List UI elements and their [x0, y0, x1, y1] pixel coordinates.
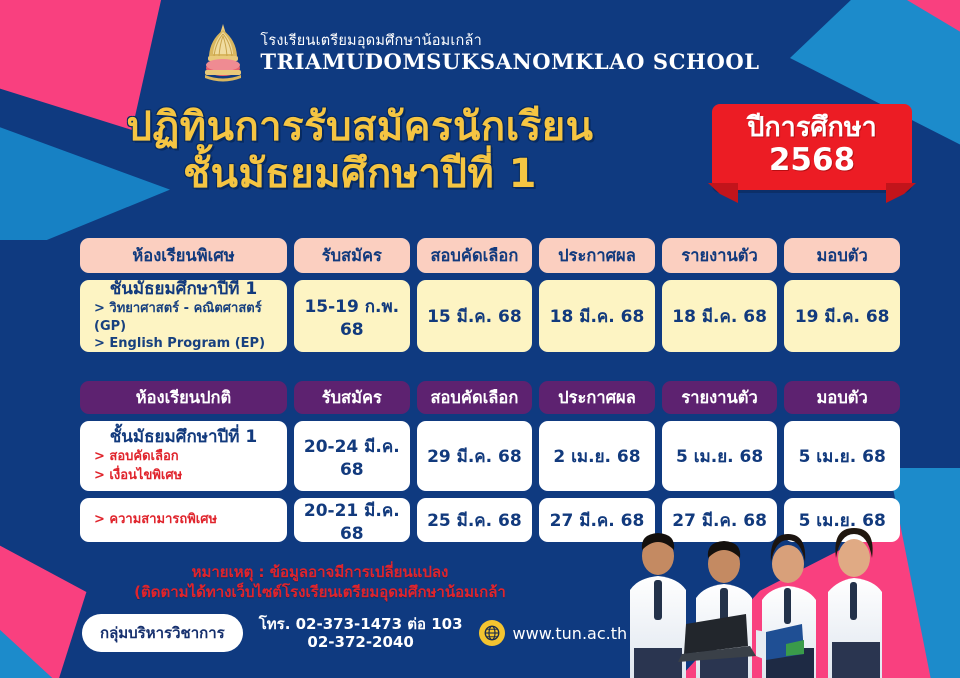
header-normal-application: รับสมัคร — [294, 381, 410, 414]
header-normal-exam: สอบคัดเลือก — [417, 381, 533, 414]
special-row-title: ชั้นมัธยมศึกษาปีที่ 1 — [86, 279, 281, 300]
special-row-sub-2: > English Program (EP) — [86, 335, 281, 353]
normal-row1-date-enroll: 5 เม.ย. 68 — [784, 421, 900, 491]
normal-row1-date-report: 5 เม.ย. 68 — [662, 421, 778, 491]
globe-icon — [479, 620, 505, 646]
table-row: ชั้นมัธยมศึกษาปีที่ 1 > วิทยาศาสตร์ - คณ… — [80, 280, 900, 352]
normal-row2-date-exam: 25 มี.ค. 68 — [417, 498, 533, 542]
school-name-thai: โรงเรียนเตรียมอุดมศึกษาน้อมเกล้า — [260, 33, 759, 50]
school-name-english: TRIAMUDOMSUKSANOMKLAO SCHOOL — [260, 51, 759, 73]
header-special-report: รายงานตัว — [662, 238, 778, 273]
normal-row1-sub-1: > สอบคัดเลือก — [86, 448, 281, 466]
normal-row2-date-application: 20-21 มี.ค. 68 — [294, 498, 410, 542]
department-badge: กลุ่มบริหารวิชาการ — [82, 614, 243, 652]
header-normal-report: รายงานตัว — [662, 381, 778, 414]
poster-header: โรงเรียนเตรียมอุดมศึกษาน้อมเกล้า TRIAMUD… — [0, 22, 960, 84]
website-block[interactable]: www.tun.ac.th — [479, 620, 628, 646]
normal-row1-title: ชั้นมัธยมศึกษาปีที่ 1 — [86, 427, 281, 448]
footnote-line-2: (ติดตามได้ทางเว็บไซต์โรงเรียนเตรียมอุดมศ… — [0, 582, 640, 602]
title-line-2: ชั้นมัธยมศึกษาปีที่ 1 — [60, 151, 660, 198]
ribbon-year: 2568 — [722, 143, 902, 178]
header-normal-classroom: ห้องเรียนปกติ — [80, 381, 287, 414]
calendar-tables: ห้องเรียนพิเศษ รับสมัคร สอบคัดเลือก ประก… — [80, 238, 900, 549]
header-special-enroll: มอบตัว — [784, 238, 900, 273]
page-title: ปฏิทินการรับสมัครนักเรียน ชั้นมัธยมศึกษา… — [60, 104, 660, 198]
special-date-report: 18 มี.ค. 68 — [662, 280, 778, 352]
normal-row1-date-exam: 29 มี.ค. 68 — [417, 421, 533, 491]
phone-block: โทร. 02-373-1473 ต่อ 103 02-372-2040 — [259, 615, 463, 651]
special-date-application: 15-19 ก.พ. 68 — [294, 280, 410, 352]
normal-row2-sub-1: > ความสามารถพิเศษ — [86, 511, 281, 529]
thai-royal-crown-emblem-icon — [200, 22, 246, 84]
header-special-exam: สอบคัดเลือก — [417, 238, 533, 273]
normal-row1-sub-2: > เงื่อนไขพิเศษ — [86, 467, 281, 485]
phone-line-1: โทร. 02-373-1473 ต่อ 103 — [259, 615, 463, 633]
title-line-1: ปฏิทินการรับสมัครนักเรียน — [60, 104, 660, 151]
ribbon-body: ปีการศึกษา 2568 — [712, 104, 912, 190]
students-photo — [616, 528, 916, 678]
special-date-exam: 15 มี.ค. 68 — [417, 280, 533, 352]
table-row: ชั้นมัธยมศึกษาปีที่ 1 > สอบคัดเลือก > เง… — [80, 421, 900, 491]
normal-table-header-row: ห้องเรียนปกติ รับสมัคร สอบคัดเลือก ประกา… — [80, 381, 900, 414]
header-normal-enroll: มอบตัว — [784, 381, 900, 414]
header-special-application: รับสมัคร — [294, 238, 410, 273]
header-special-results: ประกาศผล — [539, 238, 655, 273]
footnote-line-1: หมายเหตุ : ข้อมูลอาจมีการเปลี่ยนแปลง — [0, 562, 640, 582]
special-row-program: ชั้นมัธยมศึกษาปีที่ 1 > วิทยาศาสตร์ - คณ… — [80, 280, 287, 352]
poster-canvas: โรงเรียนเตรียมอุดมศึกษาน้อมเกล้า TRIAMUD… — [0, 0, 960, 678]
header-normal-results: ประกาศผล — [539, 381, 655, 414]
contact-bar: กลุ่มบริหารวิชาการ โทร. 02-373-1473 ต่อ … — [82, 614, 627, 652]
normal-row1-program: ชั้นมัธยมศึกษาปีที่ 1 > สอบคัดเลือก > เง… — [80, 421, 287, 491]
school-name-block: โรงเรียนเตรียมอุดมศึกษาน้อมเกล้า TRIAMUD… — [260, 33, 759, 73]
normal-row1-date-application: 20-24 มี.ค. 68 — [294, 421, 410, 491]
footnote: หมายเหตุ : ข้อมูลอาจมีการเปลี่ยนแปลง (ติ… — [0, 562, 640, 603]
special-date-results: 18 มี.ค. 68 — [539, 280, 655, 352]
special-table-header-row: ห้องเรียนพิเศษ รับสมัคร สอบคัดเลือก ประก… — [80, 238, 900, 273]
academic-year-ribbon: ปีการศึกษา 2568 — [712, 104, 912, 190]
header-special-classroom: ห้องเรียนพิเศษ — [80, 238, 287, 273]
special-row-sub-1: > วิทยาศาสตร์ - คณิตศาสตร์ (GP) — [86, 300, 281, 335]
phone-line-2: 02-372-2040 — [259, 633, 463, 651]
normal-row2-program: > ความสามารถพิเศษ — [80, 498, 287, 542]
special-date-enroll: 19 มี.ค. 68 — [784, 280, 900, 352]
ribbon-label: ปีการศึกษา — [722, 113, 902, 143]
normal-row1-date-results: 2 เม.ย. 68 — [539, 421, 655, 491]
table-separator — [80, 359, 900, 381]
ribbon-tail-left — [708, 183, 738, 203]
website-url[interactable]: www.tun.ac.th — [513, 624, 628, 643]
ribbon-tail-right — [886, 183, 916, 203]
